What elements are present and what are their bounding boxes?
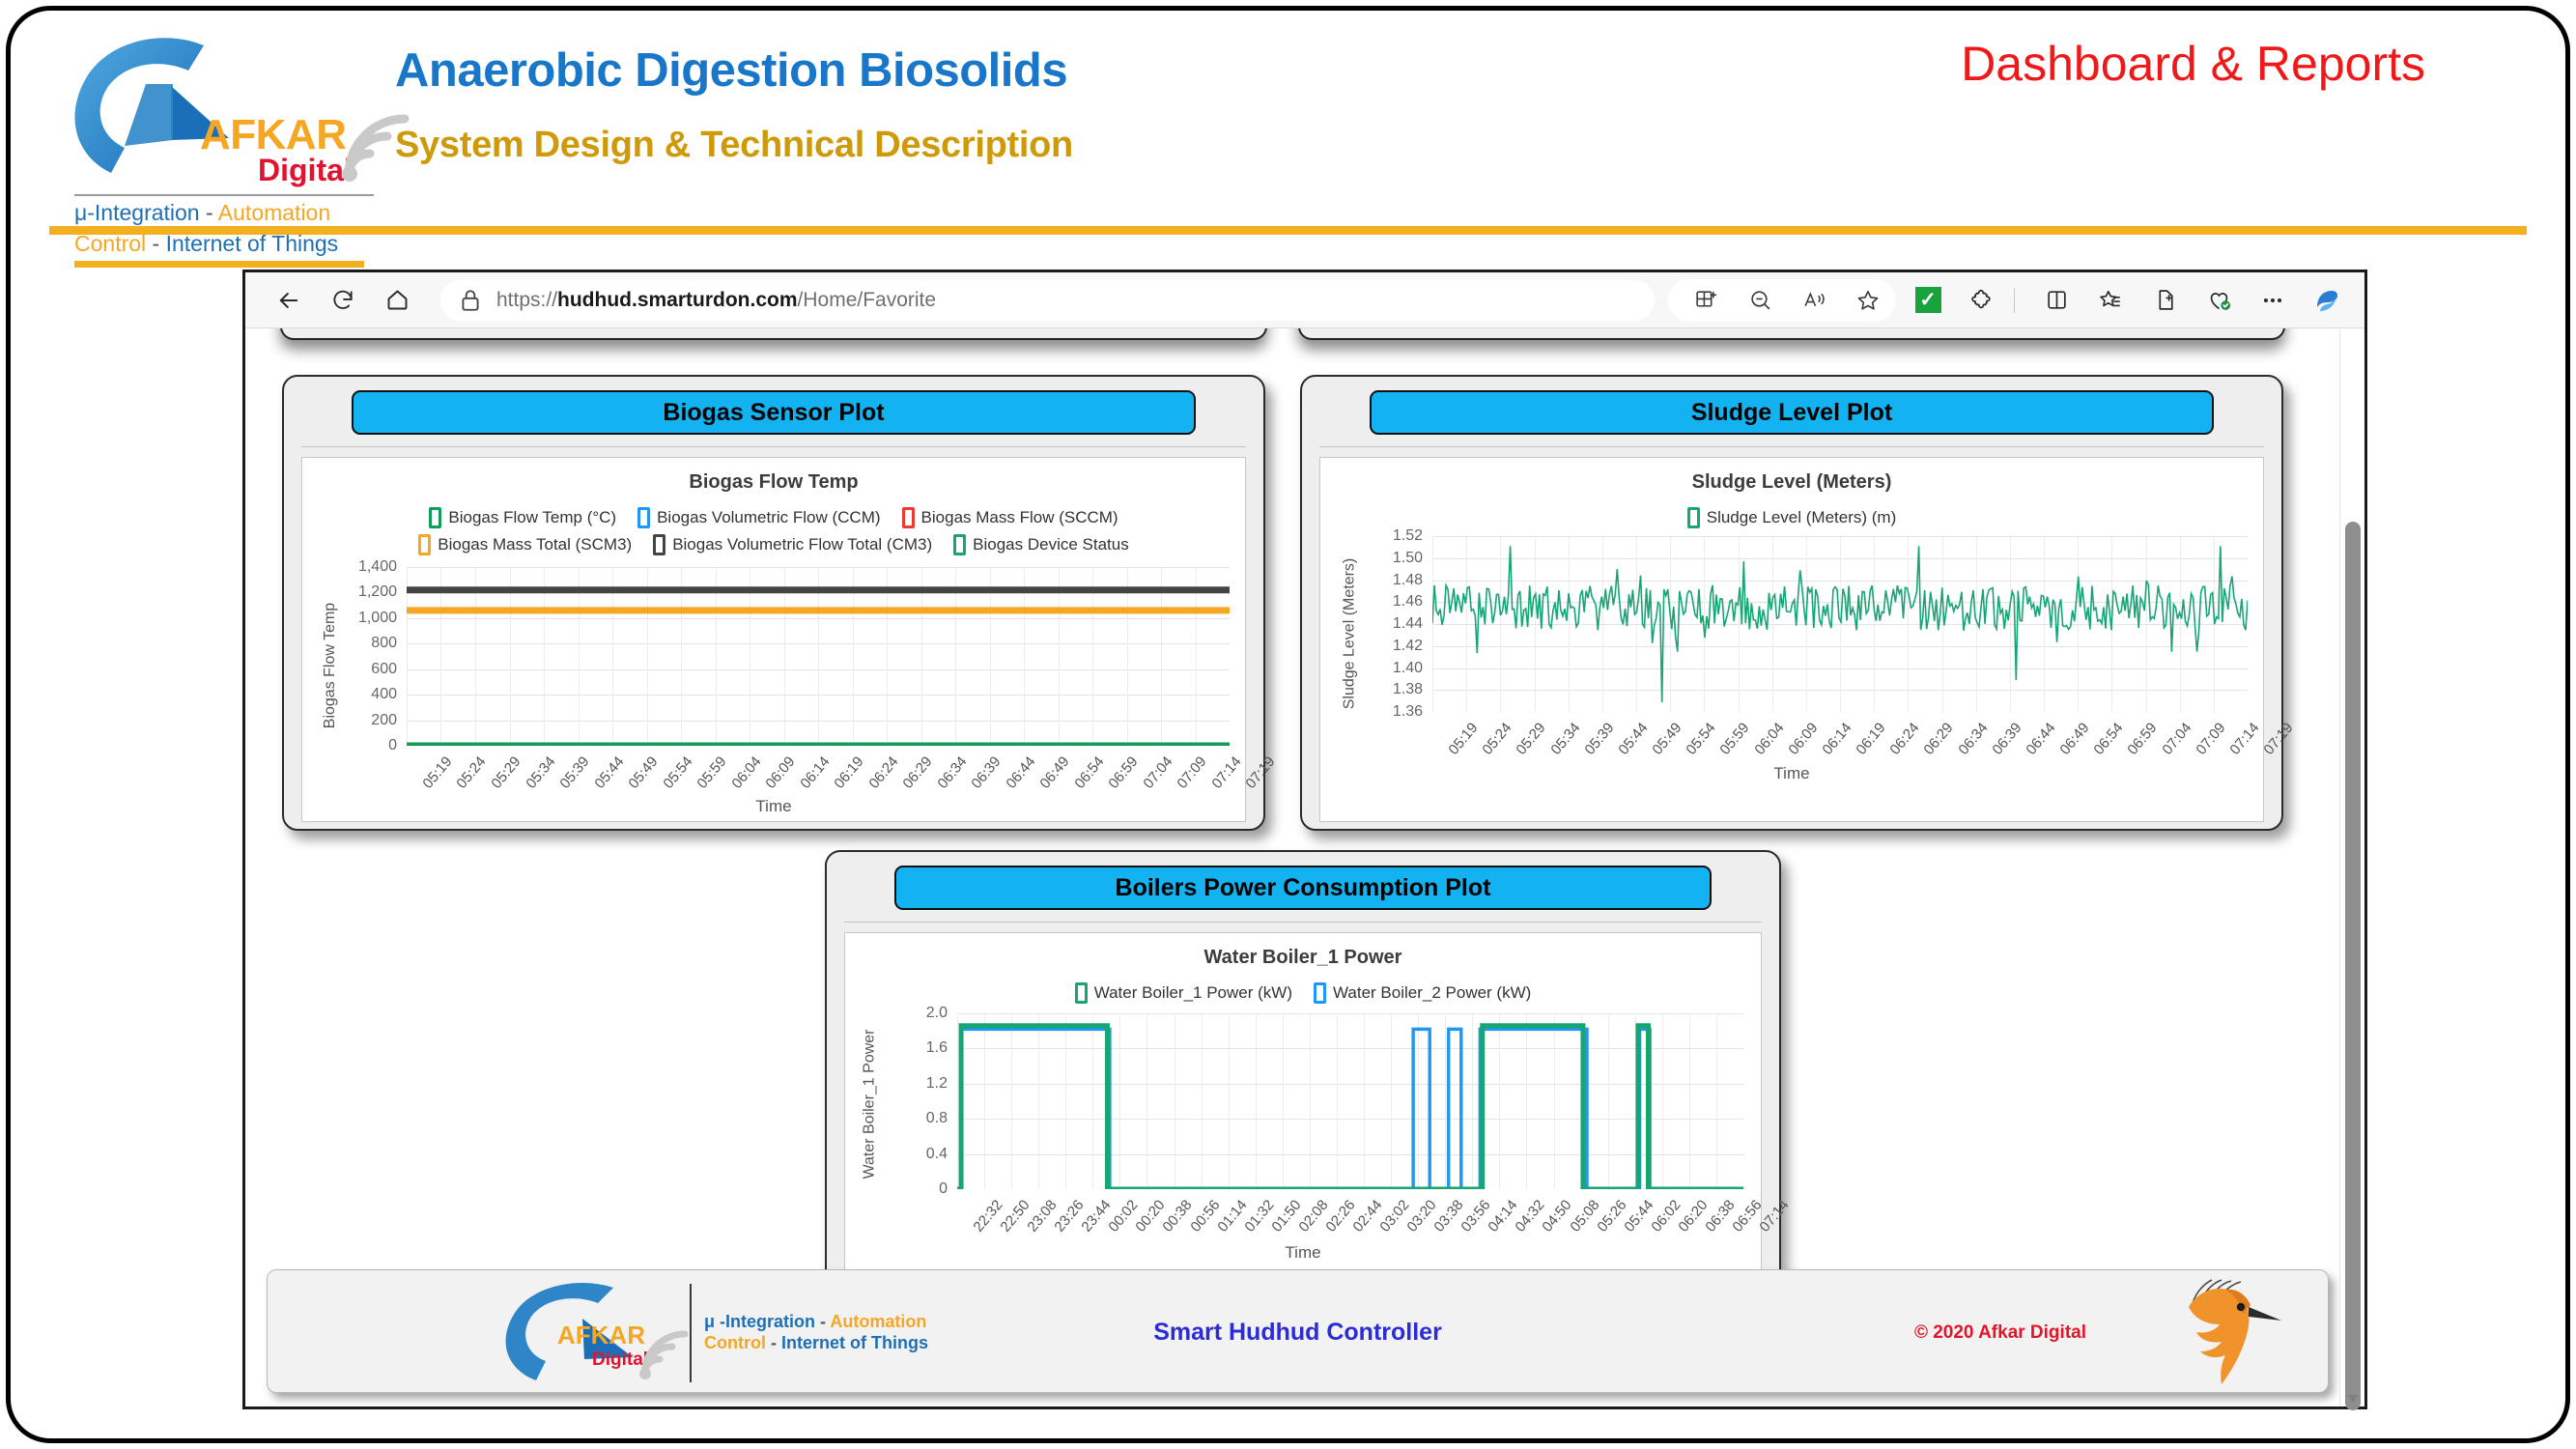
scrollbar-thumb[interactable] [2345,522,2361,1410]
footer-copyright: © 2020 Afkar Digital [1914,1322,2086,1344]
y-tick-label: 2.0 [926,1005,948,1022]
series-canvas [1432,536,2248,712]
legend-item[interactable]: Biogas Mass Flow (SCCM) [902,507,1118,528]
x-tick-label: 05:59 [694,753,729,792]
copilot-icon[interactable] [2305,278,2349,323]
add-tab-icon[interactable] [2142,278,2187,323]
chart-biogas[interactable]: Biogas Flow Temp Biogas Flow Temp (°C) B… [301,457,1246,822]
x-tick-label: 06:04 [1751,720,1787,758]
x-tick-label: 06:29 [1921,720,1957,758]
legend-item[interactable]: Biogas Volumetric Flow Total (CM3) [653,534,932,555]
x-tick-label: 06:44 [2023,720,2058,758]
x-tick-label: 01:32 [1241,1197,1277,1236]
x-tick-label: 23:44 [1079,1197,1115,1236]
cloud-arrow-logo-icon [57,32,269,186]
legend-swatch [429,507,441,528]
browser-window: https://hudhud.smarturdon.com/Home/Favor… [242,270,2367,1409]
x-tick-label: 06:14 [1819,720,1854,758]
legend-swatch [1314,982,1326,1004]
y-tick-label: 800 [371,635,397,652]
split-view-icon[interactable] [2034,278,2079,323]
x-tick-label: 06:24 [1887,720,1923,758]
x-tick-label: 04:32 [1513,1197,1548,1236]
x-tick-label: 02:08 [1295,1197,1331,1236]
y-tick-label: 1.38 [1393,681,1423,698]
home-icon[interactable] [375,278,419,323]
toolbar-actions-pill [1668,279,1896,322]
x-tick-label: 06:38 [1702,1197,1738,1236]
reload-icon[interactable] [321,278,365,323]
y-axis-ticks: 1.361.381.401.421.441.461.481.501.52 [1353,536,1429,712]
address-bar[interactable]: https://hudhud.smarturdon.com/Home/Favor… [440,280,1655,321]
page-subtitle: System Design & Technical Description [395,125,1073,166]
x-tick-label: 22:50 [997,1197,1033,1236]
legend-swatch [637,507,650,528]
zoom-out-icon[interactable] [1738,278,1782,323]
x-tick-label: 06:09 [762,753,798,792]
y-tick-label: 1.2 [926,1075,948,1093]
x-tick-label: 01:50 [1268,1197,1304,1236]
x-tick-label: 00:38 [1160,1197,1196,1236]
series-line [957,1029,1743,1189]
x-tick-label: 06:56 [1729,1197,1765,1236]
x-tick-label: 06:49 [2056,720,2092,758]
tagline-dash-1: - [206,200,213,225]
performance-heart-icon[interactable] [2196,278,2241,323]
x-tick-label: 23:26 [1052,1197,1088,1236]
x-tick-label: 06:09 [1785,720,1821,758]
y-tick-label: 1.50 [1393,550,1423,567]
y-tick-label: 1,400 [358,558,397,576]
y-tick-label: 0 [388,737,397,754]
legend-label: Biogas Volumetric Flow Total (CM3) [672,535,932,554]
x-tick-label: 05:49 [1649,720,1684,758]
section-label: Dashboard & Reports [1961,36,2425,92]
x-tick-label: 05:34 [1547,720,1583,758]
y-tick-label: 600 [371,661,397,678]
x-tick-label: 06:49 [1036,753,1072,792]
x-tick-label: 07:14 [1208,753,1244,792]
panel-sludge-level-plot: Sludge Level Plot Sludge Level (Meters) … [1300,375,2283,831]
legend-swatch [953,534,966,555]
x-tick-label: 05:49 [625,753,661,792]
chart-sludge[interactable]: Sludge Level (Meters) Sludge Level (Mete… [1319,457,2264,822]
web-page-content: Biogas Sensor Plot Biogas Flow Temp Biog… [245,328,2364,1406]
x-tick-label: 06:54 [2091,720,2127,758]
logo-divider [74,194,374,196]
x-tick-label: 06:39 [968,753,1004,792]
x-tick-label: 22:32 [970,1197,1005,1236]
x-tick-label: 05:54 [660,753,695,792]
x-tick-label: 00:20 [1133,1197,1169,1236]
green-check-extension-icon[interactable]: ✓ [1906,278,1950,323]
logo-underline [74,261,364,268]
x-tick-label: 00:02 [1106,1197,1142,1236]
x-tick-label: 06:44 [1003,753,1038,792]
panel-separator [844,922,1762,923]
x-tick-label: 06:59 [2125,720,2161,758]
series-canvas [407,567,1230,746]
browser-toolbar: https://hudhud.smarturdon.com/Home/Favor… [245,272,2364,328]
x-tick-label: 06:59 [1105,753,1141,792]
x-tick-label: 05:19 [419,753,455,792]
legend-label: Biogas Flow Temp (°C) [448,508,616,527]
back-arrow-icon[interactable] [267,278,311,323]
x-tick-label: 05:29 [488,753,524,792]
x-tick-label: 02:26 [1322,1197,1358,1236]
x-tick-label: 07:19 [1242,753,1278,792]
x-tick-label: 05:54 [1684,720,1719,758]
page-title: Anaerobic Digestion Biosolids [395,43,1067,98]
y-tick-label: 1.52 [1393,527,1423,545]
x-tick-label: 07:04 [1140,753,1175,792]
url-text: https://hudhud.smarturdon.com/Home/Favor… [496,289,936,312]
x-tick-label: 06:19 [1853,720,1888,758]
x-tick-label: 07:14 [2226,720,2262,758]
legend-item[interactable]: Biogas Volumetric Flow (CCM) [637,507,880,528]
y-tick-label: 1.48 [1393,572,1423,589]
x-tick-label: 06:24 [865,753,901,792]
panel-title-biogas[interactable]: Biogas Sensor Plot [352,390,1196,435]
panel-biogas-sensor-plot: Biogas Sensor Plot Biogas Flow Temp Biog… [282,375,1265,831]
tagline-automation: Automation [218,200,330,225]
legend-label: Water Boiler_2 Power (kW) [1333,983,1531,1003]
x-tick-label: 05:08 [1567,1197,1602,1236]
legend-swatch [1075,982,1088,1004]
legend-item[interactable]: Water Boiler_1 Power (kW) [1075,982,1292,1004]
x-tick-label: 03:38 [1431,1197,1467,1236]
chart-title-sludge: Sludge Level (Meters) [1320,458,2263,494]
y-tick-label: 1,000 [358,610,397,627]
x-tick-label: 06:34 [1955,720,1991,758]
tagline-integration: μ-Integration [74,200,200,225]
x-tick-label: 05:29 [1514,720,1549,758]
legend-label: Sludge Level (Meters) (m) [1707,508,1897,527]
panel-separator [1319,446,2264,447]
x-axis-label: Time [845,1243,1761,1263]
y-tick-label: 0.4 [926,1146,948,1163]
x-tick-label: 23:08 [1025,1197,1061,1236]
x-tick-label: 07:04 [2159,720,2194,758]
plot-area [957,1013,1743,1189]
page-footer: AFKAR Digital μ -Integration - Automatio… [267,1269,2329,1393]
url-domain: hudhud.smarturdon.com [557,289,798,311]
x-tick-label: 06:02 [1648,1197,1684,1236]
legend-item[interactable]: Water Boiler_2 Power (kW) [1314,982,1531,1004]
legend-label: Biogas Volumetric Flow (CCM) [657,508,880,527]
x-tick-label: 04:14 [1486,1197,1521,1236]
plot-area [407,567,1230,746]
y-tick-label: 400 [371,686,397,703]
slide-frame: AFKAR Digital μ-Integration - Automation… [6,6,2570,1443]
x-tick-label: 07:09 [2193,720,2228,758]
x-tick-label: 07:09 [1174,753,1209,792]
x-tick-label: 01:14 [1214,1197,1250,1236]
x-tick-label: 05:39 [1581,720,1617,758]
page-scrollbar[interactable] [2339,328,2364,1406]
url-path: /Home/Favorite [798,289,937,311]
x-tick-label: 06:29 [899,753,935,792]
y-tick-label: 1.44 [1393,615,1423,633]
x-tick-label: 05:44 [1621,1197,1656,1236]
lock-icon [458,288,483,313]
x-tick-label: 03:02 [1376,1197,1412,1236]
scroll-down-arrow-icon[interactable] [2347,1395,2359,1403]
y-tick-label: 0 [939,1180,948,1198]
x-tick-label: 05:19 [1445,720,1481,758]
x-tick-label: 03:20 [1404,1197,1440,1236]
y-axis-ticks: 02004006008001,0001,2001,400 [327,567,403,746]
y-tick-label: 200 [371,712,397,729]
panel-title-boilers[interactable]: Boilers Power Consumption Plot [894,866,1712,910]
chart-legend-sludge: Sludge Level (Meters) (m) [1320,494,2263,532]
plot-area [1432,536,2248,712]
chart-axes-biogas: Biogas Flow Temp 02004006008001,0001,200… [302,559,1245,818]
logo-tagline-row-2: Control - Internet of Things [74,231,338,257]
y-tick-label: 1.46 [1393,593,1423,611]
legend-item[interactable]: Biogas Device Status [953,534,1129,555]
chart-boilers[interactable]: Water Boiler_1 Power Water Boiler_1 Powe… [844,932,1762,1295]
x-tick-label: 07:14 [1756,1197,1792,1236]
x-tick-label: 05:59 [1717,720,1753,758]
series-canvas [957,1013,1743,1189]
chart-title-boilers: Water Boiler_1 Power [845,933,1761,969]
legend-label: Biogas Mass Total (SCM3) [438,535,632,554]
x-tick-label: 02:44 [1349,1197,1385,1236]
panel-separator [301,446,1246,447]
legend-item[interactable]: Sludge Level (Meters) (m) [1687,507,1897,528]
x-tick-label: 06:54 [1071,753,1107,792]
x-tick-label: 05:24 [1480,720,1515,758]
check-glyph: ✓ [1915,287,1941,313]
x-axis-ticks: 22:3222:5023:0823:2623:4400:0200:2000:38… [957,1193,1743,1251]
x-tick-label: 06:20 [1675,1197,1711,1236]
afkar-logo: AFKAR Digital μ-Integration - Automation… [57,32,376,225]
page-header: AFKAR Digital μ-Integration - Automation… [11,11,2565,238]
x-tick-label: 05:44 [1615,720,1651,758]
y-tick-label: 1.36 [1393,703,1423,721]
legend-item[interactable]: Biogas Flow Temp (°C) [429,507,616,528]
x-tick-label: 05:26 [1594,1197,1629,1236]
x-tick-label: 06:04 [728,753,764,792]
panel-boilers-power-plot: Boilers Power Consumption Plot Water Boi… [825,850,1781,1304]
series-line [957,1026,1743,1189]
url-prefix: https:// [496,289,557,311]
legend-item[interactable]: Biogas Mass Total (SCM3) [418,534,632,555]
chart-legend-biogas: Biogas Flow Temp (°C) Biogas Volumetric … [302,494,1245,559]
logo-tagline-row-1: μ-Integration - Automation [74,200,330,226]
chart-title-biogas: Biogas Flow Temp [302,458,1245,494]
x-tick-label: 05:24 [454,753,490,792]
legend-label: Biogas Device Status [973,535,1129,554]
clipped-panel-top-right [1298,328,2285,340]
legend-swatch [902,507,915,528]
x-tick-label: 07:19 [2260,720,2296,758]
x-tick-label: 03:56 [1458,1197,1494,1236]
y-axis-ticks: 00.40.81.21.62.0 [882,1013,953,1189]
legend-label: Biogas Mass Flow (SCCM) [921,508,1118,527]
y-tick-label: 1.40 [1393,660,1423,677]
x-tick-label: 05:34 [523,753,558,792]
y-tick-label: 1.6 [926,1039,948,1057]
legend-swatch [653,534,665,555]
toolbar-divider [2014,288,2015,313]
x-tick-label: 06:39 [1989,720,2024,758]
series-line [1432,546,2248,702]
x-tick-label: 05:44 [591,753,627,792]
y-tick-label: 0.8 [926,1110,948,1127]
y-tick-label: 1,200 [358,583,397,601]
x-tick-label: 04:50 [1540,1197,1575,1236]
y-axis-label: Water Boiler_1 Power [862,1029,879,1179]
legend-swatch [418,534,431,555]
x-tick-label: 05:39 [556,753,592,792]
x-tick-label: 06:19 [831,753,866,792]
x-tick-label: 00:56 [1187,1197,1223,1236]
panel-title-sludge[interactable]: Sludge Level Plot [1370,390,2214,435]
collections-icon[interactable] [2088,278,2133,323]
split-screen-add-icon[interactable] [1684,278,1728,323]
read-aloud-icon[interactable] [1792,278,1836,323]
extension-puzzle-icon[interactable] [1960,278,2004,323]
hoopoe-bird-icon [2167,1276,2283,1390]
star-favorite-icon[interactable] [1846,278,1890,323]
x-tick-label: 06:34 [934,753,970,792]
legend-swatch [1687,507,1700,528]
legend-label: Water Boiler_1 Power (kW) [1094,983,1292,1003]
chart-axes-sludge: Sludge Level (Meters) 1.361.381.401.421.… [1320,532,2263,820]
chart-axes-boilers: Water Boiler_1 Power 00.40.81.21.62.0 22… [845,1008,1761,1297]
chart-legend-boilers: Water Boiler_1 Power (kW) Water Boiler_2… [845,969,1761,1008]
header-divider [49,226,2527,235]
more-options-icon[interactable] [2250,278,2295,323]
toolbar-right-group: ✓ [1668,278,2364,323]
x-axis-label: Time [1320,764,2263,783]
y-tick-label: 1.42 [1393,638,1423,655]
x-tick-label: 06:14 [797,753,833,792]
clipped-panel-top-left [280,328,1267,340]
x-axis-label: Time [302,797,1245,816]
